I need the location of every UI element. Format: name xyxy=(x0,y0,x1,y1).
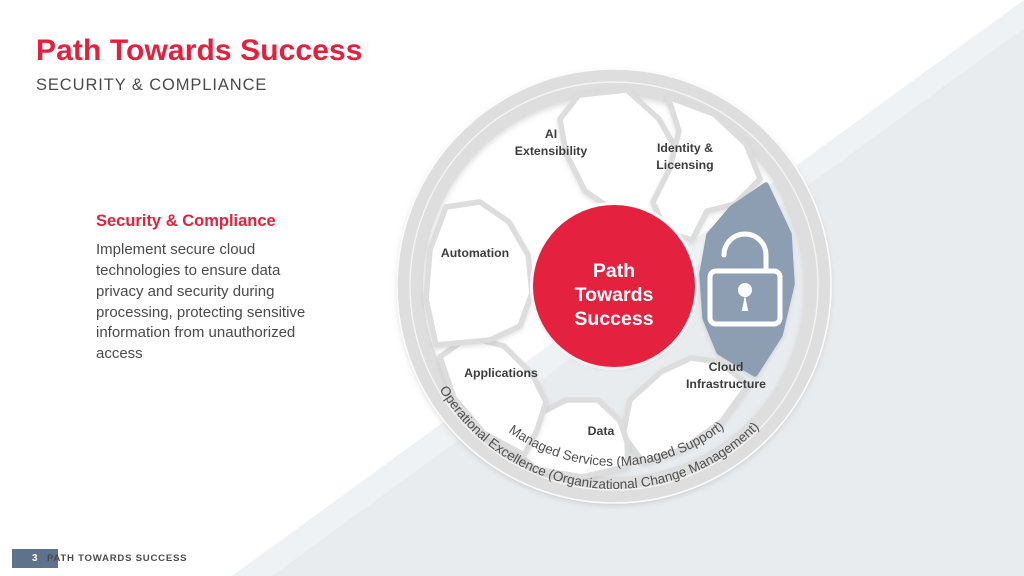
body-block: Security & Compliance Implement secure c… xyxy=(96,212,328,365)
label-cloud-infrastructure-line1: Cloud xyxy=(709,360,744,374)
label-identity-licensing-line2: Licensing xyxy=(656,158,713,172)
label-identity-licensing-line1: Identity & xyxy=(657,141,713,155)
footer: 3 PATH TOWARDS SUCCESS xyxy=(0,546,1024,576)
label-automation: Automation xyxy=(441,246,509,260)
label-ai-extensibility-line2: Extensibility xyxy=(515,144,588,158)
path-towards-success-wheel-diagram: AI Extensibility Identity & Licensing Cl… xyxy=(380,52,850,522)
body-paragraph: Implement secure cloud technologies to e… xyxy=(96,240,328,365)
body-heading: Security & Compliance xyxy=(96,212,328,231)
slide-canvas: Path Towards Success SECURITY & COMPLIAN… xyxy=(0,0,1024,576)
center-hub[interactable]: Path Towards Success xyxy=(530,202,698,370)
hub-label-line1: Path xyxy=(593,260,635,282)
label-data: Data xyxy=(588,424,615,438)
hub-label-line3: Success xyxy=(574,308,653,330)
hub-label-line2: Towards xyxy=(575,284,654,306)
label-ai-extensibility-line1: AI xyxy=(545,127,557,141)
label-cloud-infrastructure-line2: Infrastructure xyxy=(686,377,766,391)
label-applications: Applications xyxy=(464,366,538,380)
segment-automation[interactable] xyxy=(426,202,532,345)
footer-label: PATH TOWARDS SUCCESS xyxy=(47,549,187,568)
